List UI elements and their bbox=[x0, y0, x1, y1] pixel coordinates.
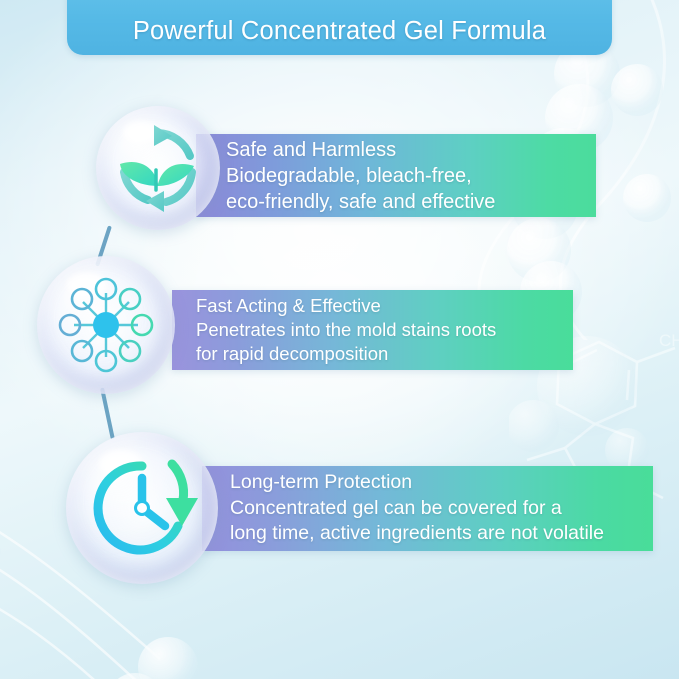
feature-bubble-long-term-protection bbox=[66, 432, 218, 584]
molecule-network-icon bbox=[54, 273, 158, 377]
feature-bubble-fast-acting-effective bbox=[37, 256, 175, 394]
page-title: Powerful Concentrated Gel Formula bbox=[133, 17, 546, 46]
feature-line-3: eco-friendly, safe and effective bbox=[226, 189, 596, 215]
feature-line-2: Concentrated gel can be covered for a bbox=[230, 496, 653, 521]
infographic-canvas: N CH Powerful Concentrated Gel Formula S… bbox=[0, 0, 679, 679]
clock-rotate-icon bbox=[86, 452, 198, 564]
feature-line-3: long time, active ingredients are not vo… bbox=[230, 521, 653, 546]
connector-line-2-3 bbox=[100, 388, 115, 440]
feature-bar-safe-and-harmless: Safe and Harmless Biodegradable, bleach-… bbox=[196, 134, 596, 217]
feature-bar-long-term-protection: Long-term Protection Concentrated gel ca… bbox=[202, 466, 653, 551]
feature-heading: Long-term Protection bbox=[230, 470, 653, 495]
leaf-recycle-icon bbox=[110, 120, 206, 216]
feature-line-2: Biodegradable, bleach-free, bbox=[226, 163, 596, 189]
feature-heading: Fast Acting & Effective bbox=[196, 294, 573, 318]
feature-line-2: Penetrates into the mold stains roots bbox=[196, 318, 573, 342]
svg-text:CH: CH bbox=[659, 331, 679, 350]
feature-bubble-safe-and-harmless bbox=[96, 106, 220, 230]
feature-bar-fast-acting-effective: Fast Acting & Effective Penetrates into … bbox=[172, 290, 573, 370]
header-banner: Powerful Concentrated Gel Formula bbox=[67, 0, 612, 55]
feature-heading: Safe and Harmless bbox=[226, 137, 596, 163]
feature-line-3: for rapid decomposition bbox=[196, 342, 573, 366]
